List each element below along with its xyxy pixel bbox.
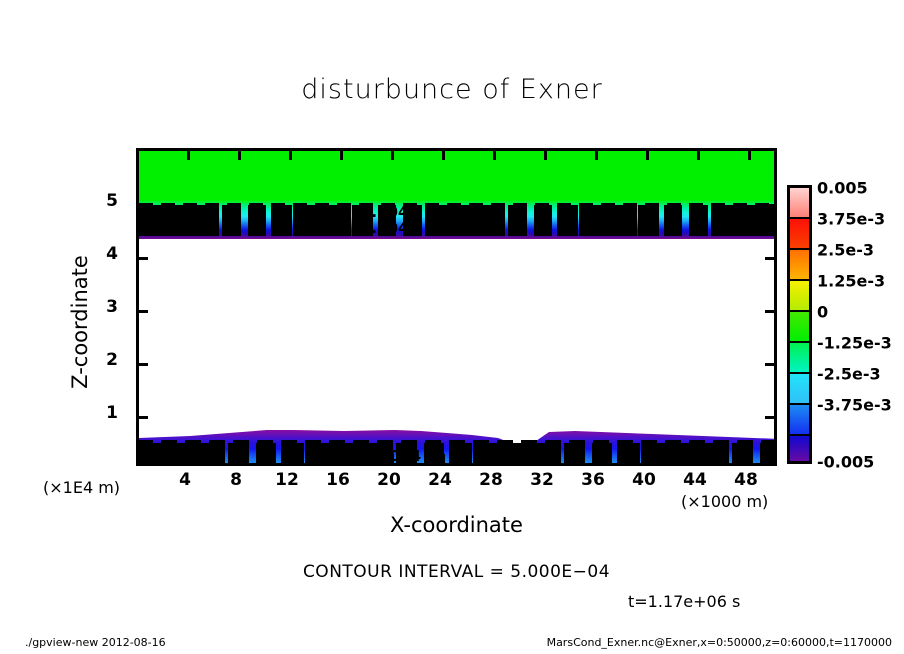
colorbar-segment [790,436,809,464]
x-tick-mark [493,454,496,463]
x-axis-unit-label: (×1000 m) [681,492,768,511]
lower-disturbance-band [139,423,774,463]
footer-dataset-label: MarsCond_Exner.nc@Exner,x=0:50000,z=0:60… [547,636,892,649]
x-tick-label: 16 [326,470,350,490]
x-tick-label: 8 [230,470,242,490]
x-tick-mark-top [442,151,445,160]
plot-area[interactable]: 0.004 0.004 −0.004 [136,148,777,466]
x-tick-mark-top [697,151,700,160]
y-tick-label: 1 [106,403,118,423]
colorbar-tick-label: 3.75e-3 [817,210,885,229]
y-tick-mark [139,363,148,366]
y-tick-label: 5 [106,191,118,211]
y-tick-mark-right [765,310,774,313]
x-tick-mark [595,454,598,463]
contour-label-upper-b: 0.004 [361,219,408,237]
x-tick-mark-top [748,151,751,160]
x-tick-mark [187,454,190,463]
x-tick-label: 28 [479,470,503,490]
colorbar[interactable] [787,185,812,464]
x-tick-label: 12 [275,470,299,490]
y-tick-label: 3 [106,297,118,317]
x-tick-label: 40 [632,470,656,490]
x-tick-label: 48 [734,470,758,490]
x-tick-mark [697,454,700,463]
y-tick-label: 4 [106,244,118,264]
colorbar-tick-label: 1.25e-3 [817,272,885,291]
x-tick-label: 4 [179,470,191,490]
footer-command-label: ./gpview-new 2012-08-16 [25,636,166,649]
y-tick-label: 2 [106,350,118,370]
colorbar-segment [790,312,809,343]
y-tick-mark [139,416,148,419]
y-tick-mark [139,204,148,207]
colorbar-tick-label: -3.75e-3 [817,396,892,415]
x-tick-mark [544,454,547,463]
colorbar-tick-label: -0.005 [817,453,874,472]
x-tick-mark-top [289,151,292,160]
upper-band-contour-dashes-offset [139,205,774,236]
x-tick-label: 32 [530,470,554,490]
x-tick-label: 24 [428,470,452,490]
x-tick-mark-top [340,151,343,160]
colorbar-segment [790,250,809,281]
page-title: disturbunce of Exner [0,74,904,105]
x-tick-mark-top [238,151,241,160]
y-axis-title: Z-coordinate [68,222,92,422]
x-tick-mark [442,454,445,463]
colorbar-segment [790,188,809,219]
x-axis-title: X-coordinate [136,513,777,537]
y-tick-mark [139,257,148,260]
x-tick-label: 44 [683,470,707,490]
colorbar-segment [790,343,809,374]
x-tick-mark-top [646,151,649,160]
y-tick-mark-right [765,257,774,260]
colorbar-segment [790,219,809,250]
y-tick-mark-right [765,363,774,366]
y-axis-unit-label: (×1E4 m) [43,478,120,497]
x-tick-mark-top [544,151,547,160]
x-tick-mark-top [595,151,598,160]
x-tick-mark [391,454,394,463]
lower-band-contour-dashes-offset [139,443,774,463]
time-stamp-label: t=1.17e+06 s [628,592,740,611]
x-tick-mark [238,454,241,463]
x-tick-label: 20 [377,470,401,490]
y-tick-mark-right [765,416,774,419]
x-tick-mark [748,454,751,463]
x-tick-mark-top [187,151,190,160]
colorbar-tick-label: 0 [817,303,828,322]
colorbar-segment [790,281,809,312]
x-tick-mark [340,454,343,463]
y-tick-mark [139,310,148,313]
plot-canvas: 0.004 0.004 −0.004 [139,151,774,463]
colorbar-tick-label: 0.005 [817,179,868,198]
x-tick-label: 36 [581,470,605,490]
colorbar-tick-label: 2.5e-3 [817,241,874,260]
x-tick-mark [646,454,649,463]
colorbar-tick-label: -2.5e-3 [817,365,881,384]
x-tick-mark-top [391,151,394,160]
x-tick-mark [289,454,292,463]
midfield-blank [139,239,774,429]
colorbar-tick-label: -1.25e-3 [817,334,892,353]
colorbar-segment [790,374,809,405]
x-tick-mark-top [493,151,496,160]
contour-interval-label: CONTOUR INTERVAL = 5.000E−04 [136,562,777,582]
colorbar-segment [790,405,809,436]
y-tick-mark-right [765,204,774,207]
